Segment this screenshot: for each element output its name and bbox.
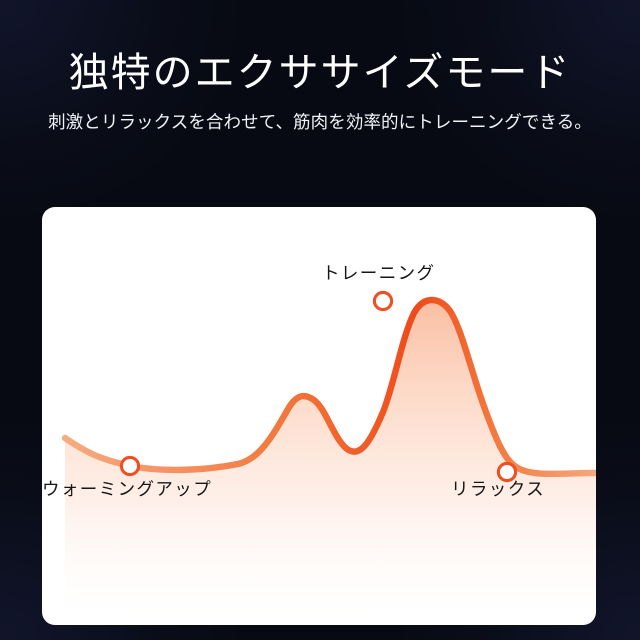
promo-slide: 独特のエクササイズモード 刺激とリラックスを合わせて、筋肉を効率的にトレーニング… [0, 0, 640, 640]
chart-label-relax: リラックス [451, 479, 545, 499]
page-subtitle: 刺激とリラックスを合わせて、筋肉を効率的にトレーニングできる。 [0, 110, 640, 134]
chart-label-training: トレーニング [322, 263, 435, 283]
chart-area-fill [65, 300, 596, 625]
chart-label-warmup: ウォーミングアップ [42, 479, 212, 499]
marker-training[interactable] [374, 292, 391, 309]
marker-warmup[interactable] [121, 457, 138, 474]
exercise-intensity-chart [42, 207, 596, 625]
page-title: 独特のエクササイズモード [0, 50, 640, 96]
chart-card: ウォーミングアップ トレーニング リラックス [42, 207, 596, 625]
